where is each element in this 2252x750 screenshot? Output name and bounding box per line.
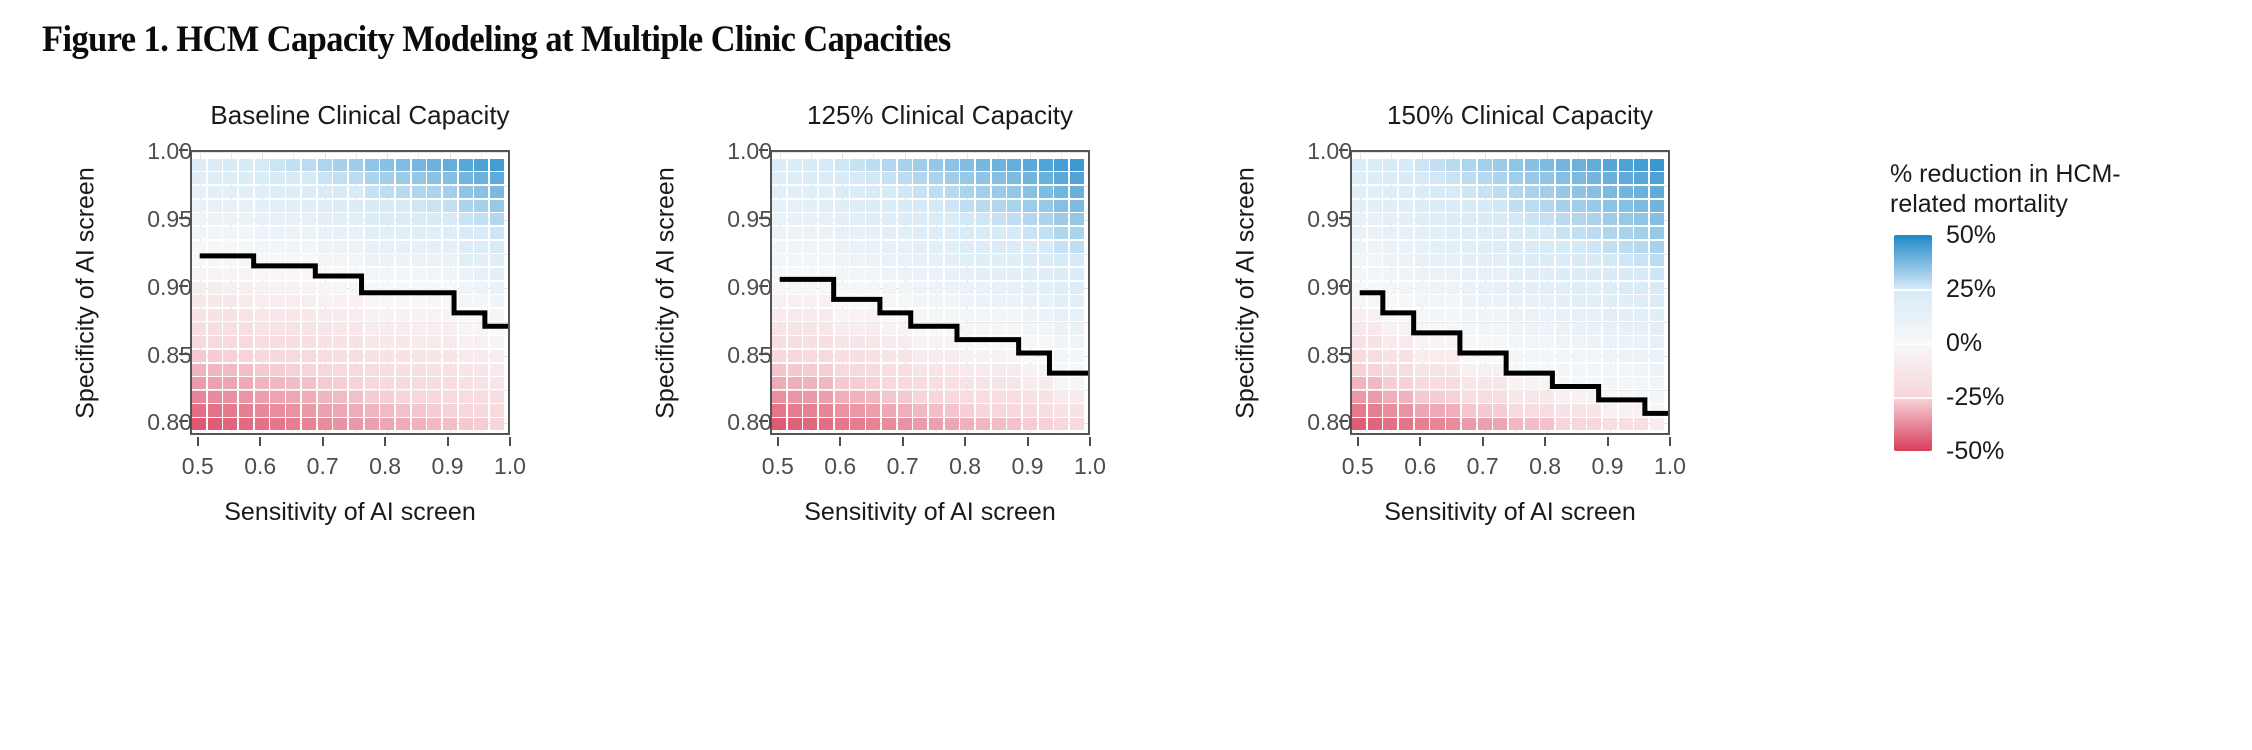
heatmap-cell — [772, 200, 786, 212]
heatmap-cell — [380, 241, 394, 253]
heatmap-cell — [286, 282, 300, 294]
heatmap-cell — [866, 418, 880, 430]
heatmap-cell — [1650, 227, 1664, 239]
heatmap-cell — [1587, 350, 1601, 362]
x-axis-tick-mark — [839, 437, 841, 446]
heatmap-cell — [302, 391, 316, 403]
heatmap-cell — [1525, 254, 1539, 266]
heatmap-cell — [1383, 323, 1397, 335]
heatmap-cell — [835, 172, 849, 184]
heatmap-cell — [1430, 350, 1444, 362]
heatmap-cell — [1493, 282, 1507, 294]
heatmap-cell — [192, 241, 206, 253]
heatmap-cell — [1634, 418, 1648, 430]
heatmap-cell — [1430, 159, 1444, 171]
y-axis-label: Specificity of AI screen — [652, 167, 681, 419]
heatmap-cell — [1070, 350, 1084, 362]
heatmap-cell — [1368, 213, 1382, 225]
heatmap-cell — [898, 391, 912, 403]
heatmap-cell — [1509, 282, 1523, 294]
heatmap-cell — [1383, 159, 1397, 171]
heatmap-cell — [412, 241, 426, 253]
heatmap-cell — [866, 282, 880, 294]
heatmap-cell — [223, 282, 237, 294]
heatmap-cell — [223, 336, 237, 348]
plot-area: 0.800.850.900.951.000.50.60.70.80.91.0 — [770, 150, 1090, 435]
heatmap-cell — [992, 391, 1006, 403]
heatmap-cell — [819, 377, 833, 389]
heatmap-cell — [490, 213, 504, 225]
heatmap-cell — [850, 172, 864, 184]
heatmap-cell — [1352, 418, 1366, 430]
heatmap-cell — [365, 241, 379, 253]
heatmap-cell — [192, 418, 206, 430]
heatmap-cell — [1007, 391, 1021, 403]
heatmap-cell — [1478, 364, 1492, 376]
y-axis-tick-label: 0.80 — [682, 409, 772, 436]
heatmap-cell — [803, 323, 817, 335]
heatmap-cell — [365, 213, 379, 225]
heatmap-cell — [976, 336, 990, 348]
heatmap-cell — [803, 364, 817, 376]
heatmap-cell — [1007, 309, 1021, 321]
heatmap-cell — [945, 309, 959, 321]
heatmap-cell — [1039, 336, 1053, 348]
heatmap-cell — [459, 377, 473, 389]
heatmap-cell — [1399, 364, 1413, 376]
heatmap-cell — [1478, 268, 1492, 280]
x-axis-tick-mark — [777, 437, 779, 446]
heatmap-cell — [1039, 200, 1053, 212]
heatmap-cell — [1023, 227, 1037, 239]
heatmap-cell — [1509, 377, 1523, 389]
heatmap-cell — [1556, 282, 1570, 294]
heatmap-cell — [898, 418, 912, 430]
heatmap-cell — [270, 268, 284, 280]
heatmap-cell — [1619, 200, 1633, 212]
heatmap-cell — [850, 295, 864, 307]
heatmap-cell — [913, 172, 927, 184]
heatmap-cell — [803, 213, 817, 225]
heatmap-cell — [1509, 213, 1523, 225]
heatmap-cell — [208, 309, 222, 321]
heatmap-cell — [819, 323, 833, 335]
heatmap-cell — [960, 404, 974, 416]
heatmap-cell — [1430, 404, 1444, 416]
heatmap-cell — [302, 200, 316, 212]
heatmap-cell — [223, 350, 237, 362]
heatmap-cell — [1587, 364, 1601, 376]
heatmap-cell — [286, 241, 300, 253]
heatmap-cell — [490, 364, 504, 376]
y-axis-tick-label: 0.80 — [102, 409, 192, 436]
heatmap-cell — [1478, 172, 1492, 184]
heatmap-cell — [835, 241, 849, 253]
heatmap-cell — [208, 268, 222, 280]
heatmap-cell — [882, 336, 896, 348]
heatmap-cell — [1415, 323, 1429, 335]
heatmap-cell — [1383, 213, 1397, 225]
heatmap-cell — [443, 418, 457, 430]
heatmap-cell — [1023, 268, 1037, 280]
heatmap-cell — [1478, 295, 1492, 307]
heatmap-cell — [1446, 200, 1460, 212]
heatmap-cell — [1462, 200, 1476, 212]
heatmap-cell — [1525, 227, 1539, 239]
heatmap-cell — [412, 323, 426, 335]
heatmap-cell — [286, 268, 300, 280]
plot-box — [1350, 150, 1670, 435]
heatmap-cell — [286, 309, 300, 321]
heatmap-cell — [1525, 213, 1539, 225]
heatmap-cell — [1368, 336, 1382, 348]
heatmap-cell — [945, 200, 959, 212]
heatmap-cell — [318, 254, 332, 266]
heatmap-cell — [255, 377, 269, 389]
heatmap-cell — [1493, 268, 1507, 280]
heatmap-cell — [992, 323, 1006, 335]
y-axis-tick-mark — [1339, 149, 1348, 151]
heatmap-cell — [882, 213, 896, 225]
heatmap-cell — [1007, 364, 1021, 376]
heatmap-cell — [474, 309, 488, 321]
heatmap-cell — [898, 404, 912, 416]
heatmap-cell — [459, 241, 473, 253]
heatmap-cell — [1634, 241, 1648, 253]
heatmap-cell — [913, 159, 927, 171]
heatmap-cell — [1493, 186, 1507, 198]
heatmap-cell — [850, 241, 864, 253]
heatmap-cell — [474, 364, 488, 376]
heatmap-cell — [1007, 336, 1021, 348]
heatmap-cell — [819, 186, 833, 198]
heatmap-cell — [490, 336, 504, 348]
heatmap-cell — [270, 295, 284, 307]
heatmap-cell — [1352, 213, 1366, 225]
heatmap-cell — [333, 377, 347, 389]
heatmap-cell — [1070, 172, 1084, 184]
heatmap-cell — [1462, 391, 1476, 403]
heatmap-cell — [1572, 404, 1586, 416]
heatmap-cell — [1619, 186, 1633, 198]
x-axis-tick-label: 1.0 — [1050, 453, 1130, 480]
heatmap-cell — [1556, 213, 1570, 225]
heatmap-cell — [1603, 404, 1617, 416]
heatmap-cell — [443, 268, 457, 280]
heatmap-cell — [945, 391, 959, 403]
heatmap-cell — [803, 268, 817, 280]
heatmap-cell — [1383, 418, 1397, 430]
heatmap-cell — [882, 186, 896, 198]
heatmap-cell — [474, 186, 488, 198]
heatmap-cell — [1462, 377, 1476, 389]
heatmap-cell — [1430, 254, 1444, 266]
colorbar-tick-label: -50% — [1946, 437, 2004, 466]
heatmap-cell — [945, 418, 959, 430]
x-axis-label: Sensitivity of AI screen — [190, 498, 510, 527]
heatmap-cell — [1572, 159, 1586, 171]
heatmap-cell — [1509, 350, 1523, 362]
heatmap-cell — [1509, 241, 1523, 253]
heatmap-cell — [1446, 350, 1460, 362]
heatmap-cell — [302, 364, 316, 376]
heatmap-cell — [286, 200, 300, 212]
heatmap-cell — [1383, 350, 1397, 362]
heatmap-cell — [443, 200, 457, 212]
heatmap-cell — [819, 254, 833, 266]
x-axis-tick-mark — [1669, 437, 1671, 446]
heatmap-cell — [1070, 254, 1084, 266]
heatmap-cell — [1634, 213, 1648, 225]
heatmap-grid — [1352, 159, 1664, 430]
heatmap-cell — [960, 213, 974, 225]
x-axis-tick-label: 1.0 — [1630, 453, 1710, 480]
heatmap-cell — [1399, 186, 1413, 198]
heatmap-cell — [960, 295, 974, 307]
heatmap-cell — [1007, 377, 1021, 389]
heatmap-cell — [1525, 282, 1539, 294]
heatmap-cell — [1572, 172, 1586, 184]
heatmap-cell — [835, 186, 849, 198]
heatmap-cell — [223, 391, 237, 403]
heatmap-cell — [1619, 377, 1633, 389]
heatmap-cell — [913, 295, 927, 307]
heatmap-cell — [255, 295, 269, 307]
heatmap-cell — [1039, 377, 1053, 389]
heatmap-cell — [1619, 159, 1633, 171]
heatmap-cell — [772, 227, 786, 239]
heatmap-cell — [803, 186, 817, 198]
heatmap-cell — [396, 227, 410, 239]
y-axis-tick-label: 0.90 — [102, 274, 192, 301]
heatmap-cell — [1556, 404, 1570, 416]
heatmap-cell — [490, 391, 504, 403]
y-axis-tick-mark — [1339, 217, 1348, 219]
heatmap-cell — [1446, 391, 1460, 403]
heatmap-cell — [255, 418, 269, 430]
panel-title: 125% Clinical Capacity — [640, 100, 1240, 131]
heatmap-cell — [835, 309, 849, 321]
heatmap-cell — [1509, 295, 1523, 307]
heatmap-cell — [1039, 404, 1053, 416]
heatmap-cell — [1619, 336, 1633, 348]
colorbar-ticks: 50%25%0%-25%-50% — [1894, 235, 1932, 451]
heatmap-cell — [365, 159, 379, 171]
heatmap-cell — [365, 268, 379, 280]
heatmap-cell — [443, 295, 457, 307]
heatmap-cell — [976, 309, 990, 321]
heatmap-cell — [960, 323, 974, 335]
heatmap-cell — [1415, 282, 1429, 294]
heatmap-cell — [819, 227, 833, 239]
heatmap-cell — [490, 159, 504, 171]
heatmap-cell — [803, 227, 817, 239]
x-axis-tick-mark — [1089, 437, 1091, 446]
heatmap-cell — [208, 377, 222, 389]
heatmap-cell — [788, 377, 802, 389]
heatmap-cell — [788, 323, 802, 335]
heatmap-cell — [1054, 213, 1068, 225]
heatmap-cell — [1415, 200, 1429, 212]
heatmap-cell — [1540, 254, 1554, 266]
heatmap-cell — [1493, 391, 1507, 403]
heatmap-cell — [1493, 377, 1507, 389]
heatmap-cell — [318, 377, 332, 389]
heatmap-cell — [427, 200, 441, 212]
heatmap-cell — [208, 418, 222, 430]
heatmap-cell — [992, 268, 1006, 280]
heatmap-cell — [1587, 404, 1601, 416]
heatmap-cell — [1070, 377, 1084, 389]
heatmap-cell — [1650, 200, 1664, 212]
heatmap-cell — [412, 172, 426, 184]
heatmap-cell — [1493, 241, 1507, 253]
heatmap-cell — [365, 295, 379, 307]
heatmap-cell — [803, 309, 817, 321]
heatmap-cell — [1430, 391, 1444, 403]
heatmap-cell — [882, 391, 896, 403]
heatmap-cell — [1509, 268, 1523, 280]
heatmap-cell — [318, 186, 332, 198]
heatmap-cell — [1039, 213, 1053, 225]
heatmap-cell — [803, 159, 817, 171]
heatmap-cell — [819, 309, 833, 321]
heatmap-cell — [1070, 418, 1084, 430]
heatmap-cell — [396, 254, 410, 266]
heatmap-cell — [459, 227, 473, 239]
heatmap-cell — [1023, 159, 1037, 171]
heatmap-cell — [380, 418, 394, 430]
heatmap-cell — [490, 186, 504, 198]
heatmap-cell — [992, 350, 1006, 362]
heatmap-cell — [1430, 172, 1444, 184]
heatmap-cell — [1399, 159, 1413, 171]
heatmap-cell — [1572, 227, 1586, 239]
heatmap-cell — [1619, 404, 1633, 416]
panel-1: Baseline Clinical CapacitySpecificity of… — [60, 100, 660, 520]
heatmap-cell — [1446, 377, 1460, 389]
heatmap-cell — [208, 295, 222, 307]
heatmap-cell — [365, 350, 379, 362]
heatmap-cell — [1540, 200, 1554, 212]
heatmap-cell — [850, 391, 864, 403]
heatmap-cell — [1619, 364, 1633, 376]
heatmap-cell — [427, 254, 441, 266]
heatmap-cell — [490, 323, 504, 335]
heatmap-cell — [1540, 377, 1554, 389]
heatmap-cell — [255, 350, 269, 362]
heatmap-cell — [1399, 404, 1413, 416]
heatmap-cell — [898, 336, 912, 348]
heatmap-cell — [1383, 336, 1397, 348]
heatmap-cell — [1070, 227, 1084, 239]
heatmap-cell — [459, 254, 473, 266]
heatmap-cell — [1509, 336, 1523, 348]
heatmap-cell — [1650, 282, 1664, 294]
heatmap-cell — [1509, 186, 1523, 198]
heatmap-cell — [270, 364, 284, 376]
heatmap-cell — [898, 186, 912, 198]
heatmap-cell — [208, 282, 222, 294]
heatmap-cell — [1352, 254, 1366, 266]
heatmap-cell — [1493, 418, 1507, 430]
heatmap-cell — [1039, 159, 1053, 171]
heatmap-cell — [223, 241, 237, 253]
heatmap-cell — [427, 323, 441, 335]
heatmap-cell — [835, 200, 849, 212]
heatmap-cell — [1525, 350, 1539, 362]
heatmap-cell — [1054, 391, 1068, 403]
heatmap-cell — [929, 350, 943, 362]
heatmap-cell — [365, 227, 379, 239]
heatmap-cell — [976, 404, 990, 416]
heatmap-cell — [349, 364, 363, 376]
heatmap-cell — [1603, 241, 1617, 253]
heatmap-cell — [945, 282, 959, 294]
heatmap-cell — [1556, 391, 1570, 403]
plot-box — [770, 150, 1090, 435]
heatmap-cell — [1007, 213, 1021, 225]
heatmap-cell — [333, 364, 347, 376]
heatmap-cell — [192, 404, 206, 416]
heatmap-cell — [208, 186, 222, 198]
heatmap-cell — [850, 364, 864, 376]
heatmap-cell — [866, 159, 880, 171]
heatmap-cell — [1509, 172, 1523, 184]
heatmap-cell — [427, 309, 441, 321]
heatmap-cell — [1572, 364, 1586, 376]
heatmap-cell — [803, 172, 817, 184]
heatmap-cell — [850, 336, 864, 348]
heatmap-cell — [1556, 364, 1570, 376]
heatmap-cell — [960, 309, 974, 321]
heatmap-cell — [1352, 391, 1366, 403]
heatmap-cell — [1446, 309, 1460, 321]
heatmap-cell — [1399, 282, 1413, 294]
heatmap-cell — [945, 336, 959, 348]
heatmap-cell — [898, 172, 912, 184]
heatmap-cell — [1054, 295, 1068, 307]
heatmap-cell — [302, 418, 316, 430]
heatmap-cell — [1556, 295, 1570, 307]
heatmap-cell — [427, 336, 441, 348]
heatmap-cell — [1603, 364, 1617, 376]
heatmap-cell — [459, 295, 473, 307]
x-axis-label: Sensitivity of AI screen — [770, 498, 1090, 527]
heatmap-cell — [866, 295, 880, 307]
heatmap-cell — [1462, 268, 1476, 280]
heatmap-cell — [1383, 227, 1397, 239]
heatmap-cell — [1478, 323, 1492, 335]
heatmap-cell — [913, 282, 927, 294]
heatmap-cell — [318, 213, 332, 225]
heatmap-cell — [318, 227, 332, 239]
heatmap-cell — [772, 391, 786, 403]
heatmap-cell — [1478, 213, 1492, 225]
heatmap-cell — [1619, 309, 1633, 321]
heatmap-cell — [1493, 159, 1507, 171]
heatmap-cell — [412, 200, 426, 212]
heatmap-cell — [270, 200, 284, 212]
heatmap-cell — [333, 336, 347, 348]
heatmap-cell — [255, 241, 269, 253]
x-axis-tick-mark — [1419, 437, 1421, 446]
heatmap-cell — [459, 323, 473, 335]
heatmap-cell — [380, 213, 394, 225]
heatmap-cell — [788, 418, 802, 430]
heatmap-cell — [1023, 213, 1037, 225]
heatmap-cell — [960, 377, 974, 389]
